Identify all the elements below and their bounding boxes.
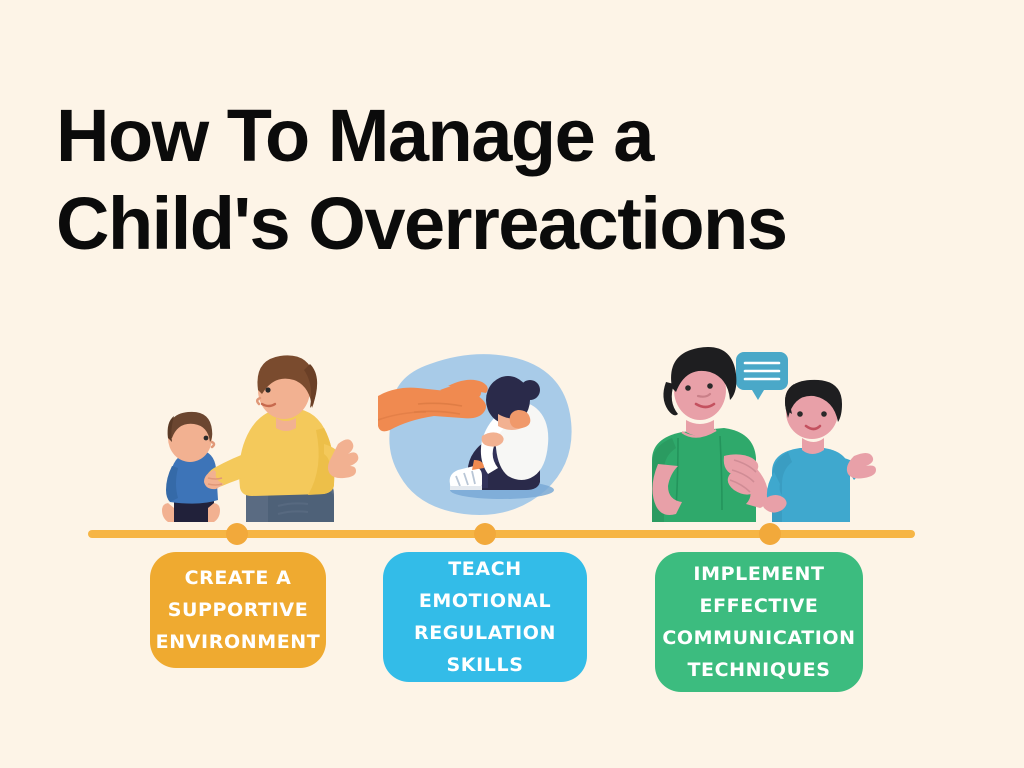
page-title: How To Manage a Child's Overreactions xyxy=(56,92,956,268)
title-line-1: How To Manage a xyxy=(56,92,956,180)
step-card-label-1: Create a Supportive Environment xyxy=(156,562,321,658)
timeline-track xyxy=(88,530,915,538)
step-card-implement-effective-communication-techniques[interactable]: Implement Effective Communication Techni… xyxy=(655,552,863,692)
timeline-dot-3[interactable] xyxy=(759,523,781,545)
speech-bubble-icon xyxy=(736,352,788,400)
timeline-dot-1[interactable] xyxy=(226,523,248,545)
step-card-teach-emotional-regulation-skills[interactable]: Teach Emotional Regulation Skills xyxy=(383,552,587,682)
parent-comforting-child-illustration xyxy=(128,338,360,522)
step-card-label-2: Teach Emotional Regulation Skills xyxy=(414,553,556,681)
parent-talking-to-child-illustration xyxy=(638,338,876,522)
helping-hand-sitting-child-illustration xyxy=(378,348,582,522)
step-card-label-3: Implement Effective Communication Techni… xyxy=(662,558,855,686)
poster-canvas: How To Manage a Child's Overreactions xyxy=(0,0,1024,768)
step-card-create-supportive-environment[interactable]: Create a Supportive Environment xyxy=(150,552,326,668)
title-line-2: Child's Overreactions xyxy=(56,180,956,268)
timeline-dot-2[interactable] xyxy=(474,523,496,545)
